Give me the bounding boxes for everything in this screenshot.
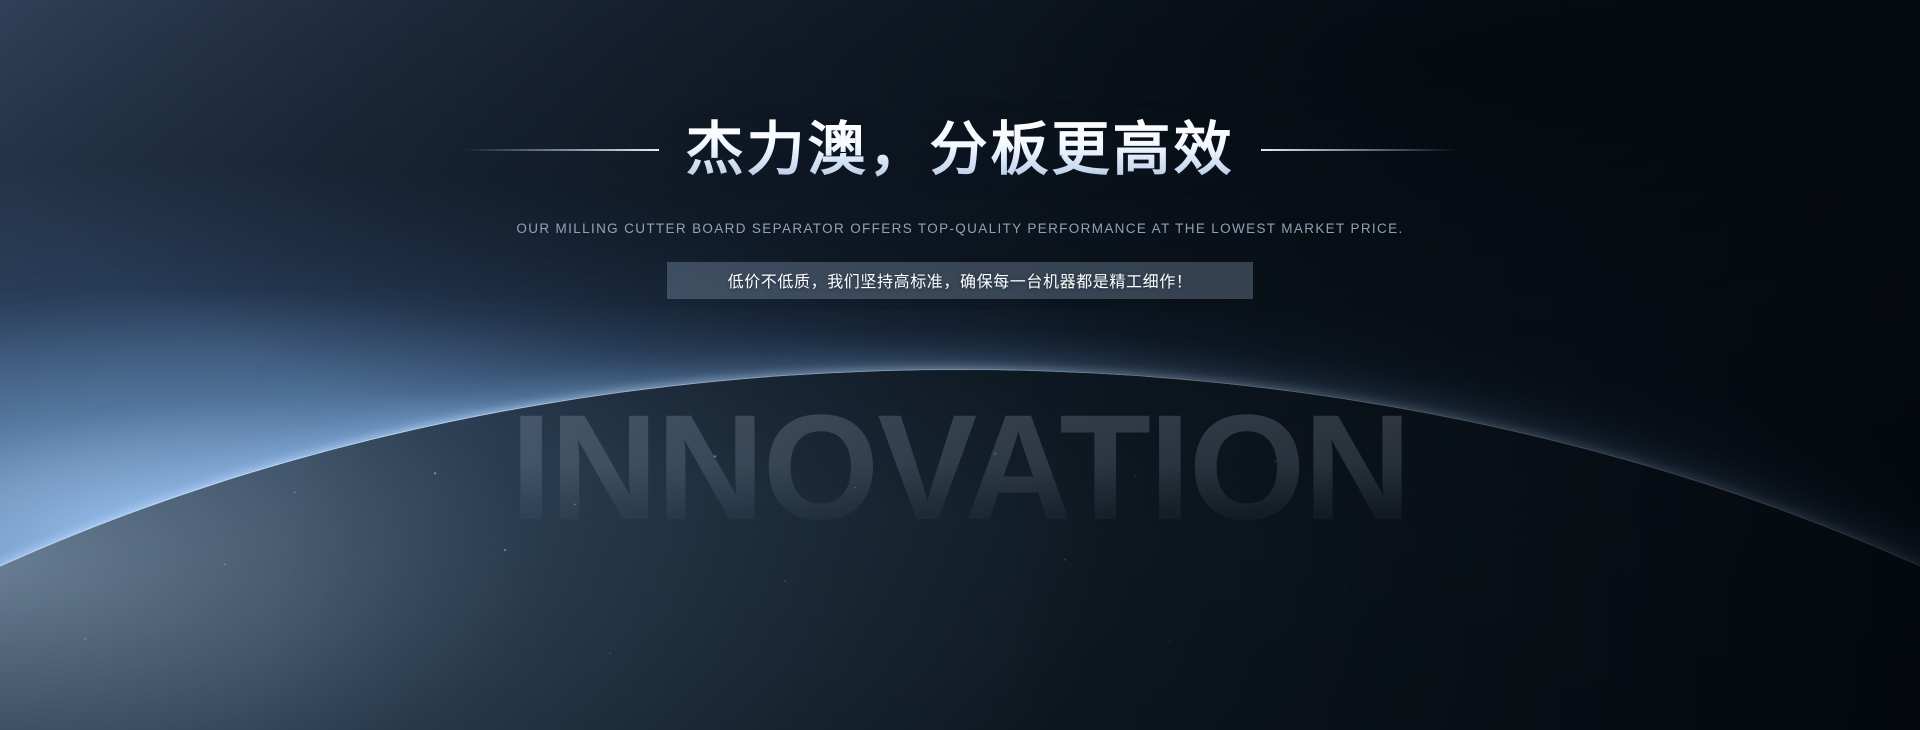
decorative-rule-left bbox=[464, 149, 659, 151]
page-title: 杰力澳，分板更高效 bbox=[685, 118, 1234, 183]
promo-banner[interactable]: 低价不低质，我们坚持高标准，确保每一台机器都是精工细作！ bbox=[667, 262, 1253, 299]
decorative-rule-right bbox=[1261, 149, 1456, 151]
hero-banner: INNOVATION 杰力澳，分板更高效 OUR MILLING CUTTER … bbox=[0, 0, 1920, 730]
headline-row: 杰力澳，分板更高效 bbox=[464, 118, 1455, 183]
hero-subtitle: OUR MILLING CUTTER BOARD SEPARATOR OFFER… bbox=[516, 221, 1403, 236]
hero-content: 杰力澳，分板更高效 OUR MILLING CUTTER BOARD SEPAR… bbox=[0, 0, 1920, 730]
